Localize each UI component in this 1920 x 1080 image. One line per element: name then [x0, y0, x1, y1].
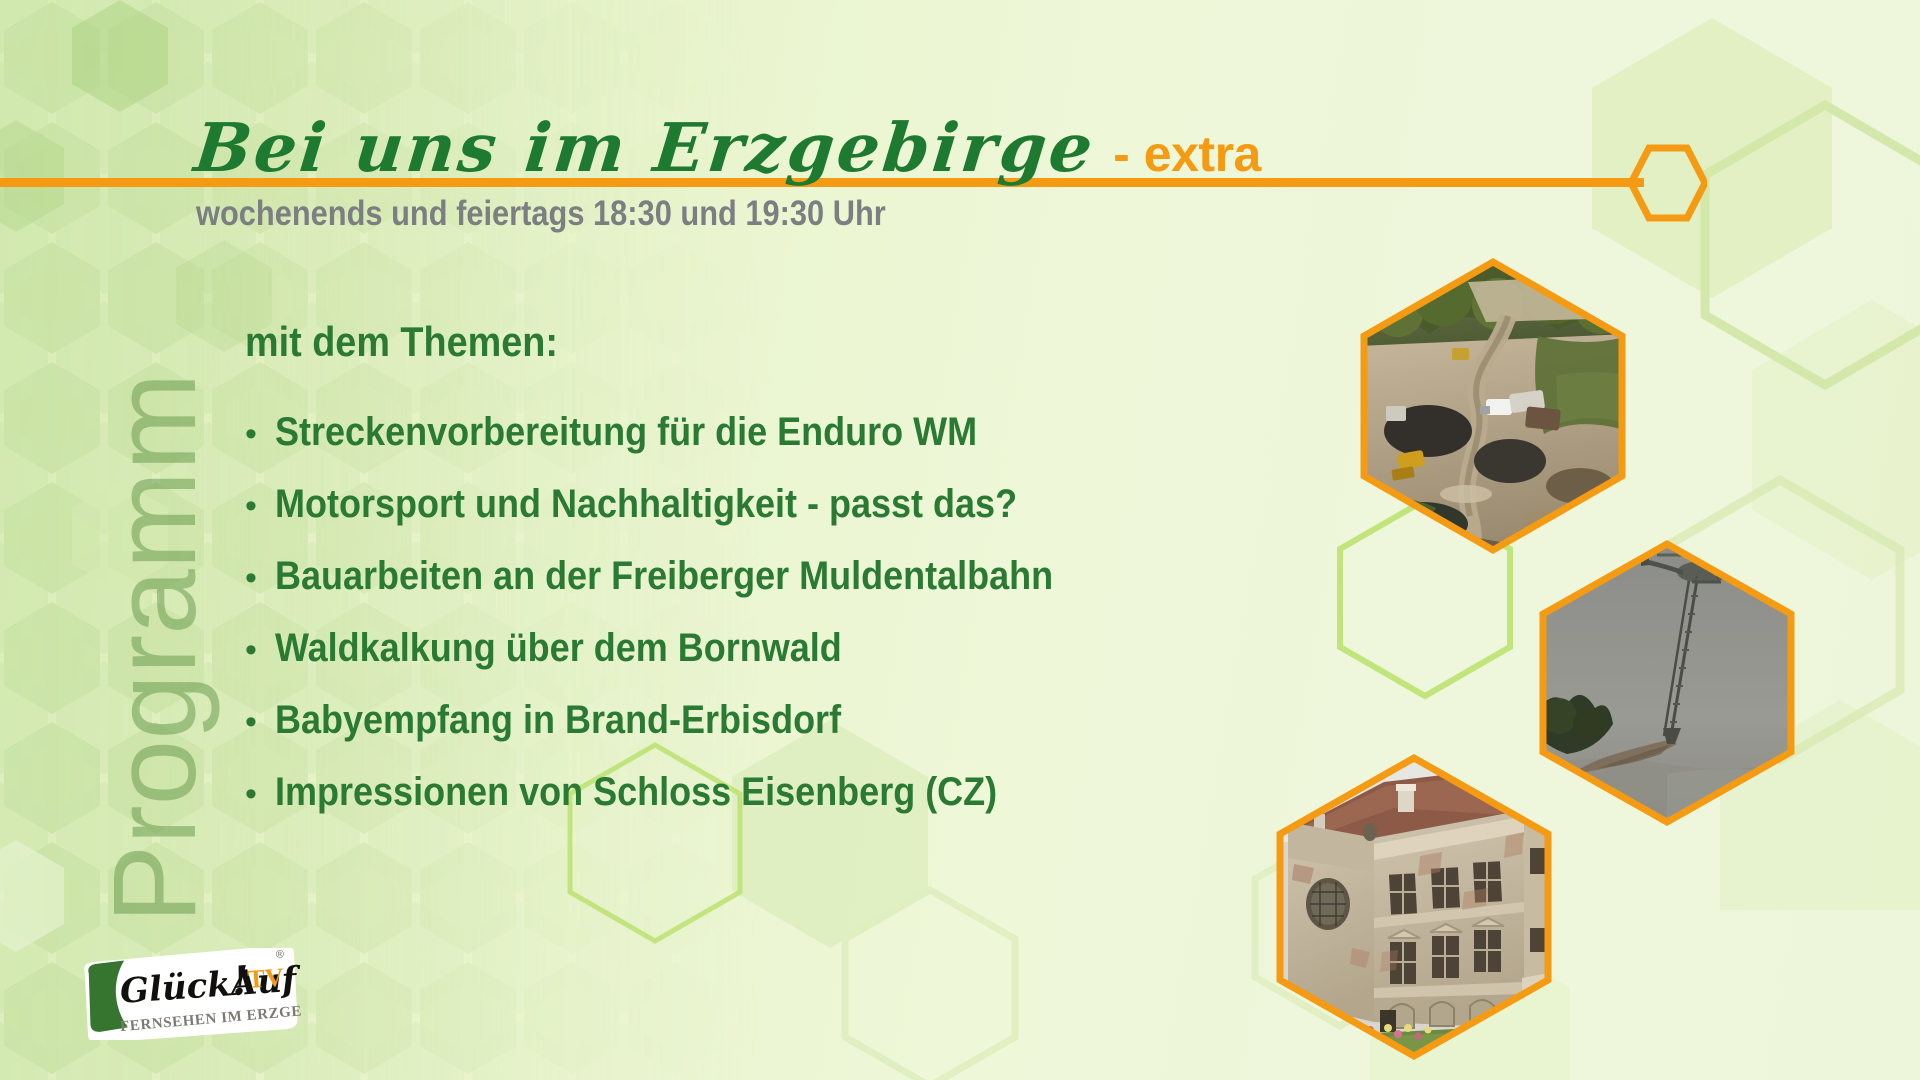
bullet-icon: •: [245, 561, 275, 595]
program-title: Bei uns im Erzgebirge - extra: [195, 108, 1261, 187]
topic-list-item: • Waldkalkung über dem Bornwald: [245, 626, 1140, 671]
title-script-text: Bei uns im Erzgebirge: [191, 108, 1099, 187]
bullet-icon: •: [245, 705, 275, 739]
broadcast-times-subtitle: wochenends und feiertags 18:30 und 19:30…: [196, 194, 886, 234]
hex-photo-helicopter-liming: [1537, 538, 1797, 828]
topic-list-item: • Bauarbeiten an der Freiberger Muldenta…: [245, 554, 1140, 599]
topic-label: Waldkalkung über dem Bornwald: [275, 626, 842, 671]
hex-photo-quarry-aerial: [1358, 256, 1628, 556]
slide-canvas: Bei uns im Erzgebirge - extra wochenends…: [0, 0, 1920, 1080]
bullet-icon: •: [245, 777, 275, 811]
orange-hexagon-icon: [1629, 144, 1707, 222]
title-dash: -: [1113, 125, 1130, 183]
topic-list-item: • Streckenvorbereitung für die Enduro WM: [245, 410, 1140, 455]
topic-label: Babyempfang in Brand-Erbisdorf: [275, 698, 841, 743]
bullet-icon: •: [245, 489, 275, 523]
topic-label: Streckenvorbereitung für die Enduro WM: [275, 410, 977, 455]
title-extra-text: extra: [1144, 125, 1261, 183]
channel-logo[interactable]: GlückAuf ! TV ® FERNSEHEN IM ERZGEBIRGE: [80, 948, 302, 1040]
logo-brand-tv: TV: [247, 963, 285, 994]
topics-section: mit dem Themen: • Streckenvorbereitung f…: [245, 318, 1140, 842]
topic-label: Bauarbeiten an der Freiberger Muldentalb…: [275, 554, 1053, 599]
topic-list-item: • Babyempfang in Brand-Erbisdorf: [245, 698, 1140, 743]
topic-list-item: • Impressionen von Schloss Eisenberg (CZ…: [245, 770, 1140, 815]
topic-label: Impressionen von Schloss Eisenberg (CZ): [275, 770, 997, 815]
section-label-programm: Programm: [87, 278, 223, 1018]
bullet-icon: •: [245, 417, 275, 451]
topics-lead-in: mit dem Themen:: [245, 318, 1050, 366]
logo-registered-mark: ®: [275, 948, 284, 961]
topic-label: Motorsport und Nachhaltigkeit - passt da…: [275, 482, 1017, 527]
topic-list-item: • Motorsport und Nachhaltigkeit - passt …: [245, 482, 1140, 527]
hex-photo-castle-eisenberg: [1274, 752, 1554, 1062]
bullet-icon: •: [245, 633, 275, 667]
